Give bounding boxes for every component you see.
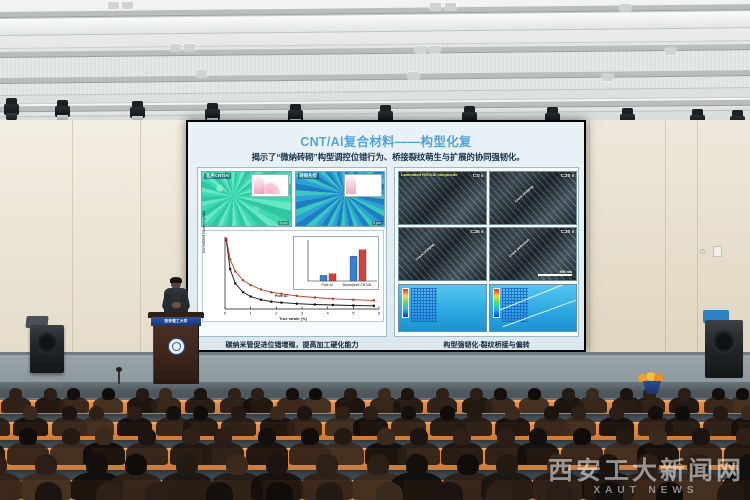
audience-member-head (138, 428, 156, 445)
audience-member-head (367, 454, 389, 475)
track-light-icon (665, 48, 676, 55)
audience-member-head (344, 388, 357, 400)
colorbar-legend (402, 288, 409, 318)
audience-member-head (95, 428, 113, 445)
sem-annotation: Crack bridging (415, 243, 435, 262)
histogram-inset (251, 174, 289, 197)
audience-member-head (316, 454, 338, 475)
audience-member-head (609, 406, 624, 420)
slide-panels: 无序CNT/Al 5 μm 砖砌构型 5 μm (197, 167, 579, 337)
audience-member-head (266, 454, 288, 475)
audience-member-head (23, 406, 38, 420)
audience-member-head (89, 406, 104, 420)
watermark: 西安工大新闻网 XAUT NEWS (548, 459, 744, 496)
audience-member-head (301, 428, 319, 445)
audience-member (0, 417, 10, 436)
audience-member-head (206, 482, 233, 500)
audience-member-head (620, 388, 633, 400)
bar-chart-svg: Pure AlBioinspired CNT/Al (294, 237, 380, 291)
wall-outlet-icon (713, 246, 722, 257)
audience-member-head (496, 454, 518, 475)
simulation-frame (489, 284, 578, 332)
audience-member-head (335, 406, 350, 420)
series-label-pure-al: Pure Al (275, 294, 287, 298)
audience-member-head (453, 428, 471, 445)
audience-member-head (505, 406, 520, 420)
stage-spotlight-icon (55, 100, 70, 121)
flower-icon (654, 374, 663, 382)
audience-member-head (401, 388, 414, 400)
audience-member-head (497, 428, 515, 445)
scale-bar-label: 5 μm (278, 221, 288, 225)
audience-member-head (62, 406, 77, 420)
audience-member-head (736, 428, 750, 445)
audience-member-head (377, 428, 395, 445)
audience-member-head (251, 388, 264, 400)
slide-title: CNT/Al复合材料——构型化复 (188, 131, 584, 150)
audience-member-head (378, 388, 391, 400)
histogram-inset (344, 174, 382, 197)
lectern: 西安理工大学 (150, 312, 202, 384)
sem-frame: t=20 s Crack bridging (489, 171, 578, 225)
audience-member-head (176, 454, 198, 475)
sem-frame: Laminated RGO/Al composite t=0 s (398, 171, 487, 225)
audience-member-head (334, 428, 352, 445)
audience-member-head (363, 406, 378, 420)
watermark-chinese: 西安工大新闻网 (548, 459, 744, 484)
audience-member-head (528, 388, 541, 400)
audience-member-head (125, 454, 147, 475)
hardening-rate-chart: 0123456 Normalized hardening rate True s… (202, 230, 384, 322)
university-emblem-icon (168, 338, 185, 355)
slide-subtitle: 揭示了“微纳砖砌”构型调控位错行为、桥接裂纹萌生与扩展的协同强韧化。 (196, 151, 580, 163)
svg-text:3: 3 (301, 311, 304, 316)
audience-member-head (9, 388, 22, 400)
sem-frame: t=25 s Crack bridging (398, 227, 487, 281)
audience-member-head (544, 406, 559, 420)
track-light-icon (620, 4, 631, 11)
micrograph-row: 无序CNT/Al 5 μm 砖砌构型 5 μm (201, 171, 385, 227)
audience-member-head (457, 454, 479, 475)
simulation-frame (398, 284, 487, 332)
panel-right: Laminated RGO/Al composite t=0 s t=20 s … (394, 167, 579, 337)
presenter-hands (172, 302, 181, 308)
sem-image-grid: Laminated RGO/Al composite t=0 s t=20 s … (398, 171, 577, 281)
track-light-icon (429, 46, 440, 53)
audience-member-head (470, 388, 483, 400)
audience-member-head (193, 406, 208, 420)
audience-member-head (401, 406, 416, 420)
audience-member-head (44, 388, 57, 400)
audience-member-head (562, 388, 575, 400)
audience-member-head (166, 406, 181, 420)
svg-text:0: 0 (224, 311, 227, 316)
track-light-icon (196, 70, 207, 77)
audience-member-head (529, 428, 547, 445)
caption-left: 碳纳米管促进位错增殖，提高加工硬化能力 (197, 340, 387, 350)
micrograph-label: 砖砌构型 (298, 173, 320, 179)
audience-member-head (231, 406, 246, 420)
lectern-banner-text: 西安理工大学 (164, 319, 187, 324)
audience-member-head (127, 406, 142, 420)
track-light-icon (430, 3, 441, 10)
audience-member-head (467, 406, 482, 420)
simulation-row (398, 284, 577, 332)
audience-member-head (286, 388, 299, 400)
svg-text:6: 6 (378, 311, 381, 316)
projection-screen: CNT/Al复合材料——构型化复 揭示了“微纳砖砌”构型调控位错行为、桥接裂纹萌… (186, 120, 586, 352)
lecture-hall-photo: CNT/Al复合材料——构型化复 揭示了“微纳砖砌”构型调控位错行为、桥接裂纹萌… (0, 0, 750, 500)
sem-timestamp: t=20 s (561, 173, 574, 178)
audience-member-head (67, 388, 80, 400)
audience-member-head (19, 428, 37, 445)
audience-member-head (573, 428, 591, 445)
audience-member-head (494, 388, 507, 400)
audience-member-head (410, 428, 428, 445)
track-light-icon (602, 74, 613, 81)
ceiling (0, 0, 750, 128)
audience-member-head (159, 388, 172, 400)
track-light-icon (415, 46, 426, 53)
caption-right: 构型强韧化-裂纹桥接与偏转 (394, 340, 579, 350)
sem-sample-note: Laminated RGO/Al composite (401, 173, 457, 178)
sem-annotation: Crack deflection (508, 238, 530, 259)
audience-member-head (270, 406, 285, 420)
panel-captions: 碳纳米管促进位错增殖，提高加工硬化能力 构型强韧化-裂纹桥接与偏转 (197, 340, 579, 350)
audience-member-head (136, 388, 149, 400)
wall-sensor-icon (700, 249, 705, 254)
audience-member-head (736, 388, 749, 400)
audience-member-head (145, 482, 172, 500)
track-light-icon (445, 3, 456, 10)
audience-member-head (440, 406, 455, 420)
micrograph-disordered: 无序CNT/Al 5 μm (201, 171, 292, 227)
micrograph-brickwork: 砖砌构型 5 μm (295, 171, 386, 227)
audience-member-head (486, 482, 513, 500)
audience-member-head (62, 428, 80, 445)
audience-member-head (102, 388, 115, 400)
loudspeaker-right (705, 320, 743, 378)
svg-text:Bioinspired CNT/Al: Bioinspired CNT/Al (343, 283, 372, 287)
flower-arrangement (635, 372, 669, 394)
microphone-stand (118, 370, 120, 384)
audience-member-head (586, 388, 599, 400)
audience-member-head (96, 482, 123, 500)
dislocation-bar-chart: Pure AlBioinspired CNT/Al (293, 236, 379, 290)
audience-member-head (309, 388, 322, 400)
audience-member-head (616, 428, 634, 445)
sem-timestamp: t=30 s (561, 229, 574, 234)
audience-member-head (258, 428, 276, 445)
svg-text:1: 1 (250, 311, 253, 316)
sem-frame: t=30 s Crack deflection 500 nm (489, 227, 578, 281)
svg-text:5: 5 (352, 311, 355, 316)
audience-member-head (678, 388, 691, 400)
track-light-icon (184, 44, 195, 51)
audience-member-head (713, 406, 728, 420)
audience-member-head (376, 482, 403, 500)
sem-annotation: Crack bridging (513, 185, 533, 204)
chart-x-axis-label: True strain (%) (203, 316, 383, 321)
loudspeaker-left (30, 325, 64, 373)
audience-member-head (86, 454, 108, 475)
micrograph-label: 无序CNT/Al (204, 173, 231, 179)
scale-bar-label: 5 μm (372, 221, 382, 225)
svg-text:Pure Al: Pure Al (322, 283, 333, 287)
sem-scalebar (538, 274, 572, 276)
svg-text:4: 4 (327, 311, 330, 316)
presenter-hair (170, 277, 182, 283)
flower-wrapper (640, 381, 664, 394)
audience-member-head (649, 428, 667, 445)
sem-timestamp: t=25 s (470, 229, 483, 234)
audience-member-head (194, 388, 207, 400)
track-light-icon (170, 44, 181, 51)
sem-timestamp: t=0 s (473, 173, 484, 178)
track-light-icon (122, 2, 133, 9)
watermark-english: XAUT NEWS (548, 485, 744, 496)
audience-member-head (675, 406, 690, 420)
colorbar-legend (493, 288, 500, 318)
stage-spotlight-icon (4, 98, 19, 119)
track-light-icon (108, 2, 119, 9)
audience-member (0, 472, 22, 500)
audience-member-head (571, 406, 586, 420)
audience-member-head (692, 428, 710, 445)
panel-left: 无序CNT/Al 5 μm 砖砌构型 5 μm (197, 167, 387, 337)
audience-member-head (228, 388, 241, 400)
audience-member-head (226, 454, 248, 475)
chart-y-axis-label: Normalized hardening rate (202, 211, 206, 253)
audience-member-head (316, 482, 343, 500)
audience-member-head (741, 406, 750, 420)
stage-spotlight-icon (130, 101, 145, 122)
svg-text:2: 2 (275, 311, 278, 316)
audience-member-head (214, 428, 232, 445)
audience-member-head (712, 388, 725, 400)
presentation-slide: CNT/Al复合材料——构型化复 揭示了“微纳砖砌”构型调控位错行为、桥接裂纹萌… (188, 122, 584, 350)
audience-member-head (436, 388, 449, 400)
audience-member-head (297, 406, 312, 420)
audience-member-head (648, 406, 663, 420)
audience-member-head (35, 454, 57, 475)
audience-member-head (406, 454, 428, 475)
track-light-icon (408, 72, 419, 79)
audience-member-head (266, 482, 293, 500)
fem-mesh (411, 288, 437, 322)
audience-member-head (182, 428, 200, 445)
